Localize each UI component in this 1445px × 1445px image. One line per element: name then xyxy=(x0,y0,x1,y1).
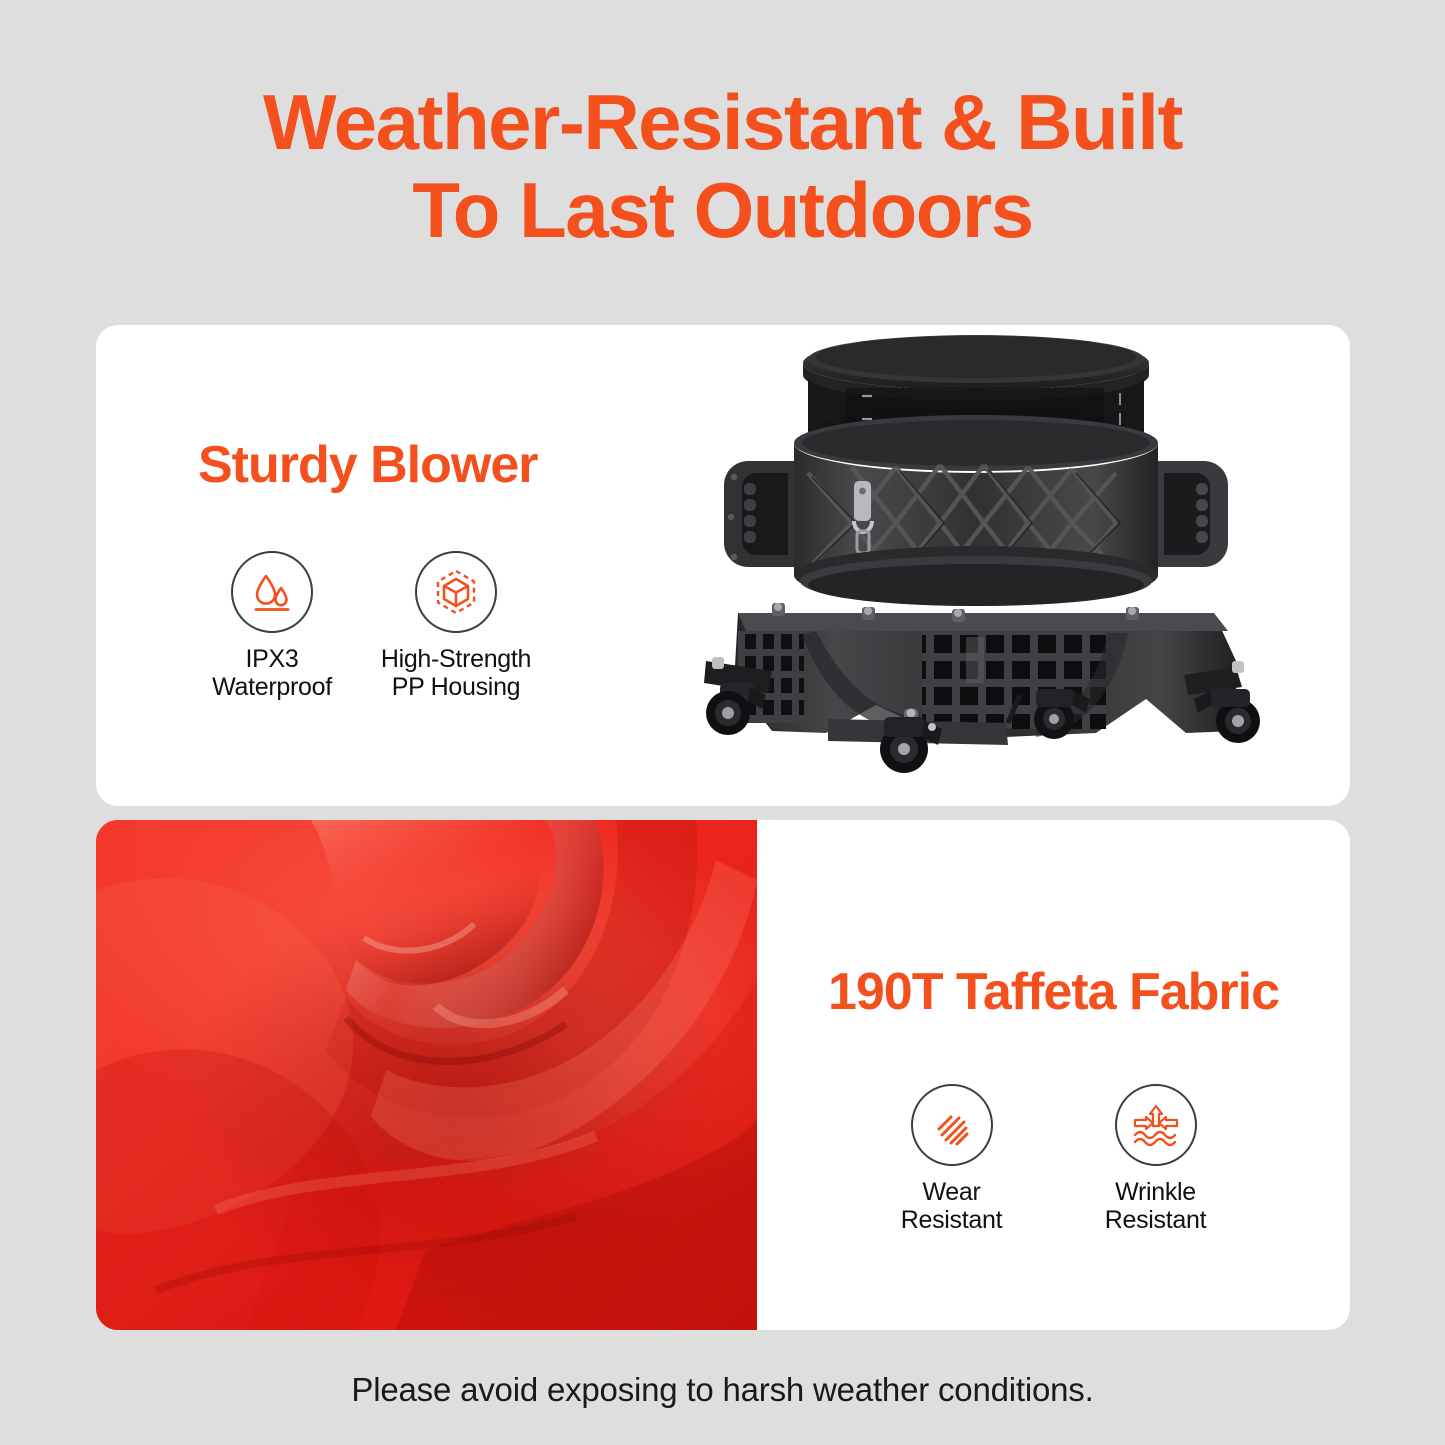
footer-disclaimer: Please avoid exposing to harsh weather c… xyxy=(0,1371,1445,1409)
feature-label-line-1: Wrinkle xyxy=(1115,1178,1196,1206)
page-title-line-2: To Last Outdoors xyxy=(0,166,1445,254)
sturdy-blower-text-block: Sturdy Blower IPX3 Waterproof xyxy=(196,435,626,701)
blower-product-image xyxy=(676,331,1316,801)
feature-label-wear-resistant: Wear Resistant xyxy=(876,1178,1028,1234)
feature-wear-resistant: Wear Resistant xyxy=(876,1084,1028,1234)
feature-label-line-2: Resistant xyxy=(901,1206,1003,1234)
page-title: Weather-Resistant & Built To Last Outdoo… xyxy=(0,78,1445,254)
feature-label-line-2: Waterproof xyxy=(212,673,332,701)
feature-wrinkle-resistant: Wrinkle Resistant xyxy=(1080,1084,1232,1234)
feature-card-sturdy-blower: Sturdy Blower IPX3 Waterproof xyxy=(96,325,1350,806)
taffeta-fabric-image xyxy=(96,820,757,1330)
page-title-line-1: Weather-Resistant & Built xyxy=(263,78,1182,166)
feature-label-line-2: Resistant xyxy=(1105,1206,1207,1234)
diagonal-lines-icon xyxy=(911,1084,993,1166)
feature-ipx3-waterproof: IPX3 Waterproof xyxy=(196,551,348,701)
feature-label-line-1: Wear xyxy=(922,1178,980,1206)
feature-label-line-2: PP Housing xyxy=(392,673,521,701)
water-drop-icon xyxy=(231,551,313,633)
feature-card-taffeta-fabric: 190T Taffeta Fabric Wear xyxy=(96,820,1350,1330)
feature-label-pp-housing: High-Strength PP Housing xyxy=(380,645,532,701)
feature-label-ipx3: IPX3 Waterproof xyxy=(196,645,348,701)
feature-label-line-1: High-Strength xyxy=(381,645,531,673)
feature-label-wrinkle-resistant: Wrinkle Resistant xyxy=(1080,1178,1232,1234)
feature-pp-housing: High-Strength PP Housing xyxy=(380,551,532,701)
sturdy-blower-feature-row: IPX3 Waterproof High-Strength PP Housing xyxy=(196,551,626,701)
feature-label-line-1: IPX3 xyxy=(246,645,299,673)
taffeta-fabric-feature-row: Wear Resistant xyxy=(757,1084,1350,1234)
taffeta-fabric-text-block: 190T Taffeta Fabric Wear xyxy=(757,820,1350,1330)
sturdy-blower-title: Sturdy Blower xyxy=(198,435,626,495)
taffeta-fabric-title: 190T Taffeta Fabric xyxy=(757,962,1350,1022)
hexagon-cube-icon xyxy=(415,551,497,633)
arrows-waves-icon xyxy=(1115,1084,1197,1166)
